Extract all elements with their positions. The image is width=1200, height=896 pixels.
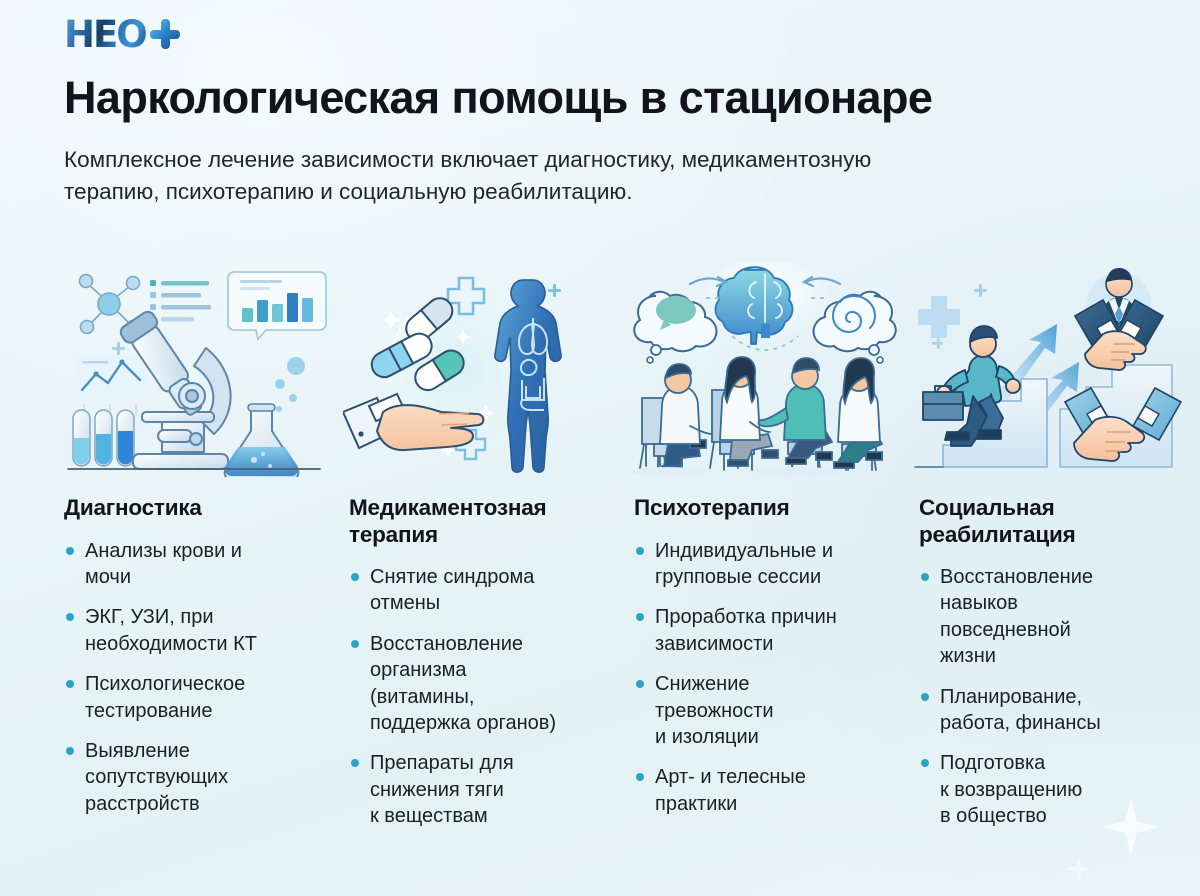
- category-title: Социальная реабилитация: [919, 495, 1171, 548]
- category-bullet-list: Анализы крови и мочи ЭКГ, УЗИ, при необх…: [64, 538, 316, 818]
- list-item: Планирование, работа, финансы: [919, 684, 1171, 737]
- group-therapy-illustration: [628, 262, 903, 477]
- brand-name: НЕО: [64, 16, 146, 53]
- list-item: Проработка причин зависимости: [634, 604, 886, 657]
- list-item: Снятие синдрома отмены: [349, 564, 601, 617]
- category-column-social-rehabilitation: Социальная реабилитация Восстановление н…: [903, 262, 1188, 844]
- category-column-psychotherapy: Психотерапия Индивидуальные и групповые …: [618, 262, 903, 844]
- microscope-lab-illustration: [58, 262, 333, 477]
- list-item: Снижение тревожности и изоляции: [634, 671, 886, 750]
- category-bullet-list: Индивидуальные и групповые сессии Прораб…: [634, 538, 886, 818]
- category-title: Медикаментозная терапия: [349, 495, 601, 548]
- page-subtitle: Комплексное лечение зависимости включает…: [64, 144, 944, 209]
- poster-header: НЕО Наркологическая помощь в стационаре …: [64, 12, 1152, 209]
- list-item: Подготовка к возвращению в общество: [919, 750, 1171, 829]
- category-bullet-list: Снятие синдрома отмены Восстановление ор…: [349, 564, 601, 830]
- list-item: Выявление сопутствующих расстройств: [64, 738, 316, 817]
- infographic-poster: НЕО Наркологическая помощь в стационаре …: [0, 0, 1200, 896]
- list-item: Анализы крови и мочи: [64, 538, 316, 591]
- career-stairs-handshake-illustration: [913, 262, 1188, 477]
- list-item: Восстановление навыков повседневной жизн…: [919, 564, 1171, 670]
- list-item: Психологическое тестирование: [64, 671, 316, 724]
- category-bullet-list: Восстановление навыков повседневной жизн…: [919, 564, 1171, 830]
- category-column-diagnostics: Диагностика Анализы крови и мочи ЭКГ, УЗ…: [48, 262, 333, 844]
- list-item: Арт- и телесные практики: [634, 764, 886, 817]
- brand-logo: НЕО: [64, 12, 1152, 56]
- hand-with-pills-illustration: [343, 262, 618, 477]
- page-title: Наркологическая помощь в стационаре: [64, 74, 1152, 122]
- category-title: Диагностика: [64, 495, 316, 522]
- list-item: Препараты для снижения тяги к веществам: [349, 750, 601, 829]
- list-item: Восстановление организма (витамины, подд…: [349, 631, 601, 737]
- category-title: Психотерапия: [634, 495, 886, 522]
- category-column-medication-therapy: Медикаментозная терапия Снятие синдрома …: [333, 262, 618, 844]
- sparkle-decoration: [1066, 856, 1092, 882]
- categories-grid: Диагностика Анализы крови и мочи ЭКГ, УЗ…: [48, 262, 1182, 844]
- plus-icon: [150, 19, 180, 49]
- list-item: Индивидуальные и групповые сессии: [634, 538, 886, 591]
- list-item: ЭКГ, УЗИ, при необходимости КТ: [64, 604, 316, 657]
